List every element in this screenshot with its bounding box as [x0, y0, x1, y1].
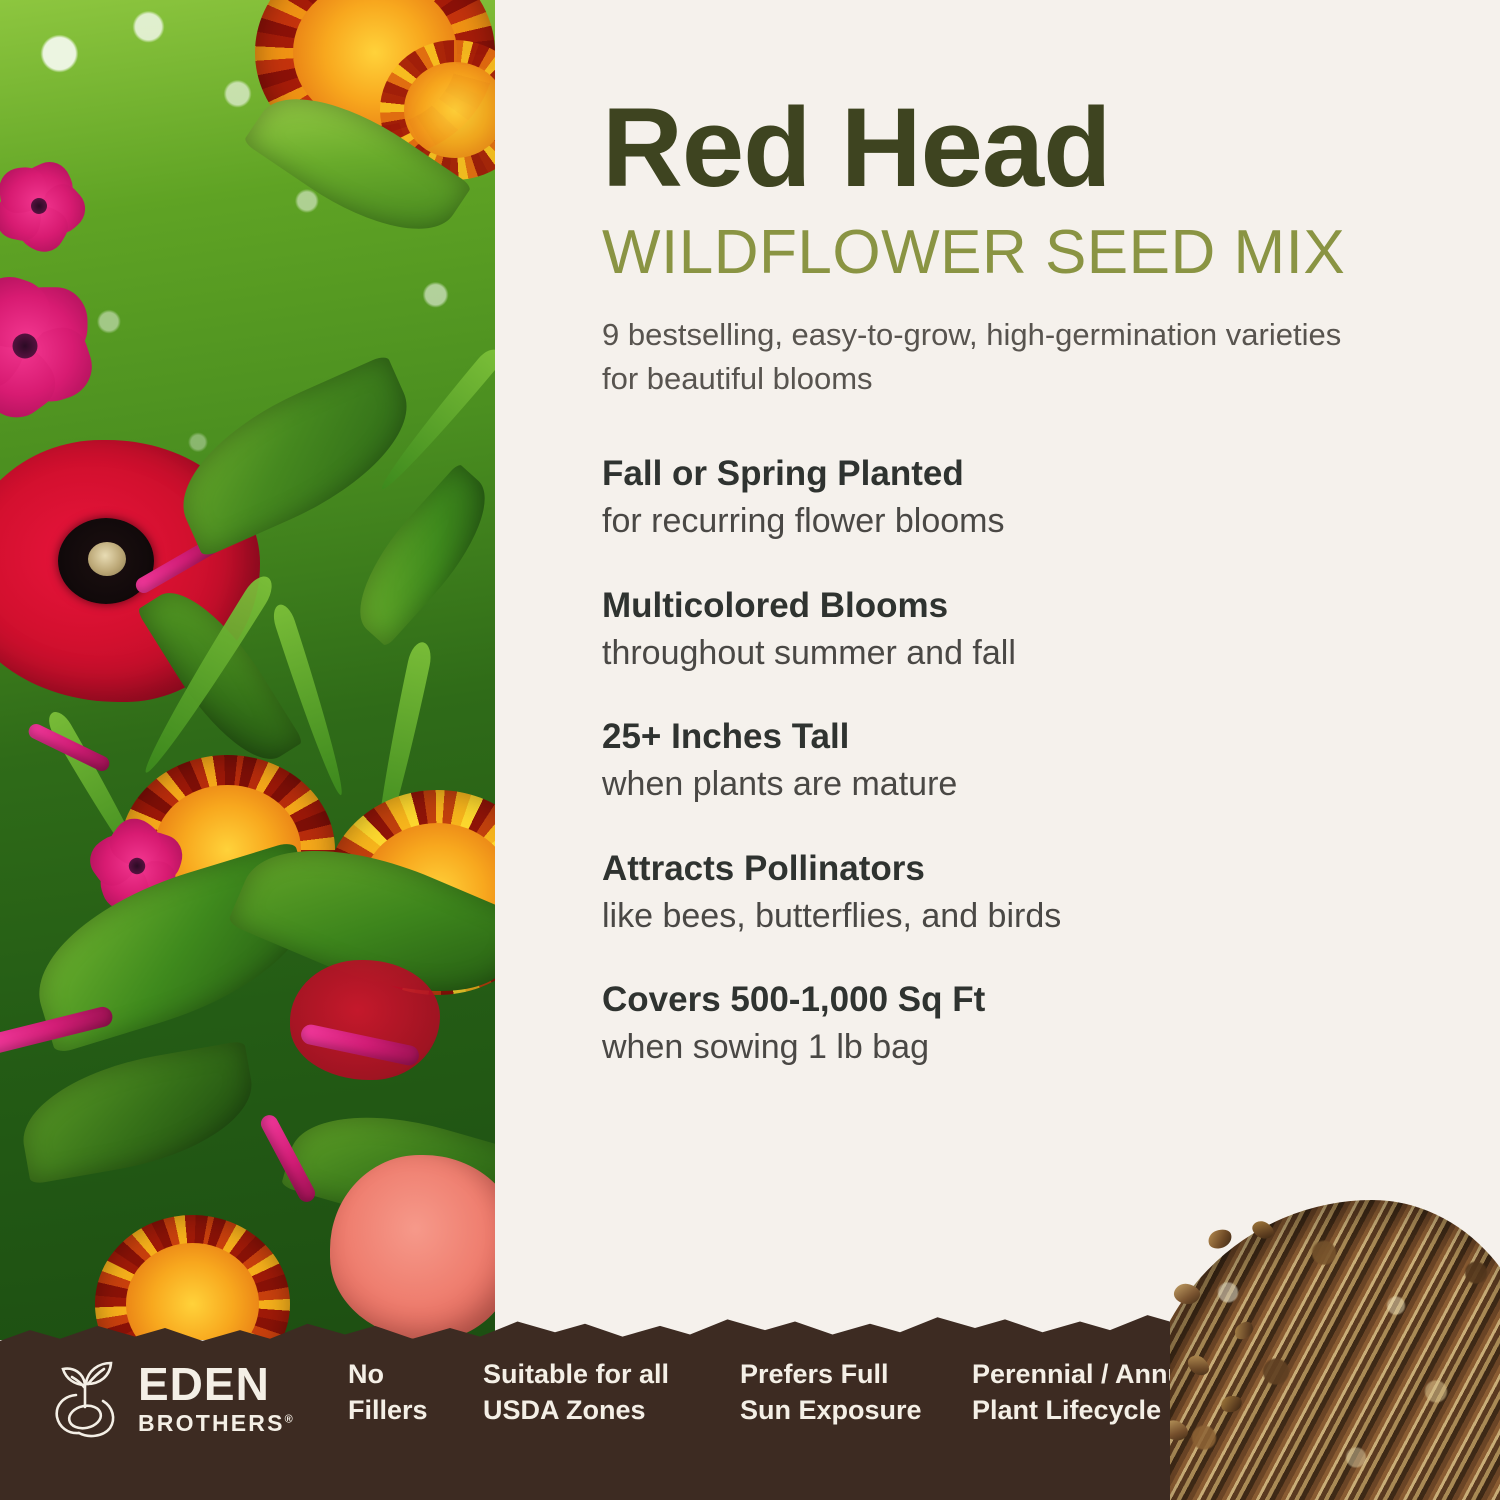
scarlet-flax-flower — [0, 146, 100, 266]
salmon-poppy-flower — [330, 1155, 495, 1340]
feature-title: Multicolored Blooms — [602, 585, 1430, 627]
feature-item: 25+ Inches Tall when plants are mature — [602, 716, 1430, 806]
feature-item: Covers 500-1,000 Sq Ft when sowing 1 lb … — [602, 979, 1430, 1069]
feature-list: Fall or Spring Planted for recurring flo… — [602, 453, 1430, 1069]
brand-name-bottom: BROTHERS® — [138, 1412, 295, 1435]
marigold-flower — [95, 1215, 290, 1340]
leaf-shape — [158, 354, 432, 558]
benefit-item: Prefers Full Sun Exposure — [740, 1357, 972, 1428]
leaf-shape — [13, 1040, 263, 1184]
feature-subtitle: throughout summer and fall — [602, 632, 1430, 675]
scarlet-flax-flower — [0, 276, 99, 416]
poppy-seed-pod — [88, 542, 126, 576]
feature-title: Covers 500-1,000 Sq Ft — [602, 979, 1430, 1021]
feature-item: Attracts Pollinators like bees, butterfl… — [602, 848, 1430, 938]
red-poppy-flower — [290, 960, 440, 1080]
product-description: 9 bestselling, easy-to-grow, high-germin… — [602, 313, 1362, 401]
feature-item: Fall or Spring Planted for recurring flo… — [602, 453, 1430, 543]
product-feature-poster: Red Head WILDFLOWER SEED MIX 9 bestselli… — [0, 0, 1500, 1500]
hero-photo — [0, 0, 495, 1340]
feature-title: 25+ Inches Tall — [602, 716, 1430, 758]
benefit-list: No Fillers Suitable for all USDA Zones P… — [348, 1357, 1500, 1428]
benefit-item: Suitable for all USDA Zones — [483, 1357, 740, 1428]
brand-wordmark: EDEN BROTHERS® — [138, 1361, 295, 1435]
page-title: Red Head — [602, 92, 1430, 204]
meadow-foliage-backdrop — [0, 0, 495, 1340]
feature-subtitle: for recurring flower blooms — [602, 500, 1430, 543]
registered-mark: ® — [285, 1413, 295, 1425]
product-subtitle: WILDFLOWER SEED MIX — [602, 218, 1430, 287]
content-column: Red Head WILDFLOWER SEED MIX 9 bestselli… — [495, 0, 1500, 1340]
leaf-shape — [335, 463, 495, 647]
feature-subtitle: when plants are mature — [602, 763, 1430, 806]
feature-title: Fall or Spring Planted — [602, 453, 1430, 495]
sprout-seed-icon — [48, 1357, 122, 1439]
brand-lockup: EDEN BROTHERS® — [48, 1357, 348, 1439]
feature-title: Attracts Pollinators — [602, 848, 1430, 890]
feature-subtitle: like bees, butterflies, and birds — [602, 895, 1430, 938]
benefit-item: No Fillers — [348, 1357, 483, 1428]
brand-name-top: EDEN — [138, 1361, 295, 1407]
feature-item: Multicolored Blooms throughout summer an… — [602, 585, 1430, 675]
feature-subtitle: when sowing 1 lb bag — [602, 1026, 1430, 1069]
benefit-item: Perennial / Annual Plant Lifecycle — [972, 1357, 1252, 1428]
